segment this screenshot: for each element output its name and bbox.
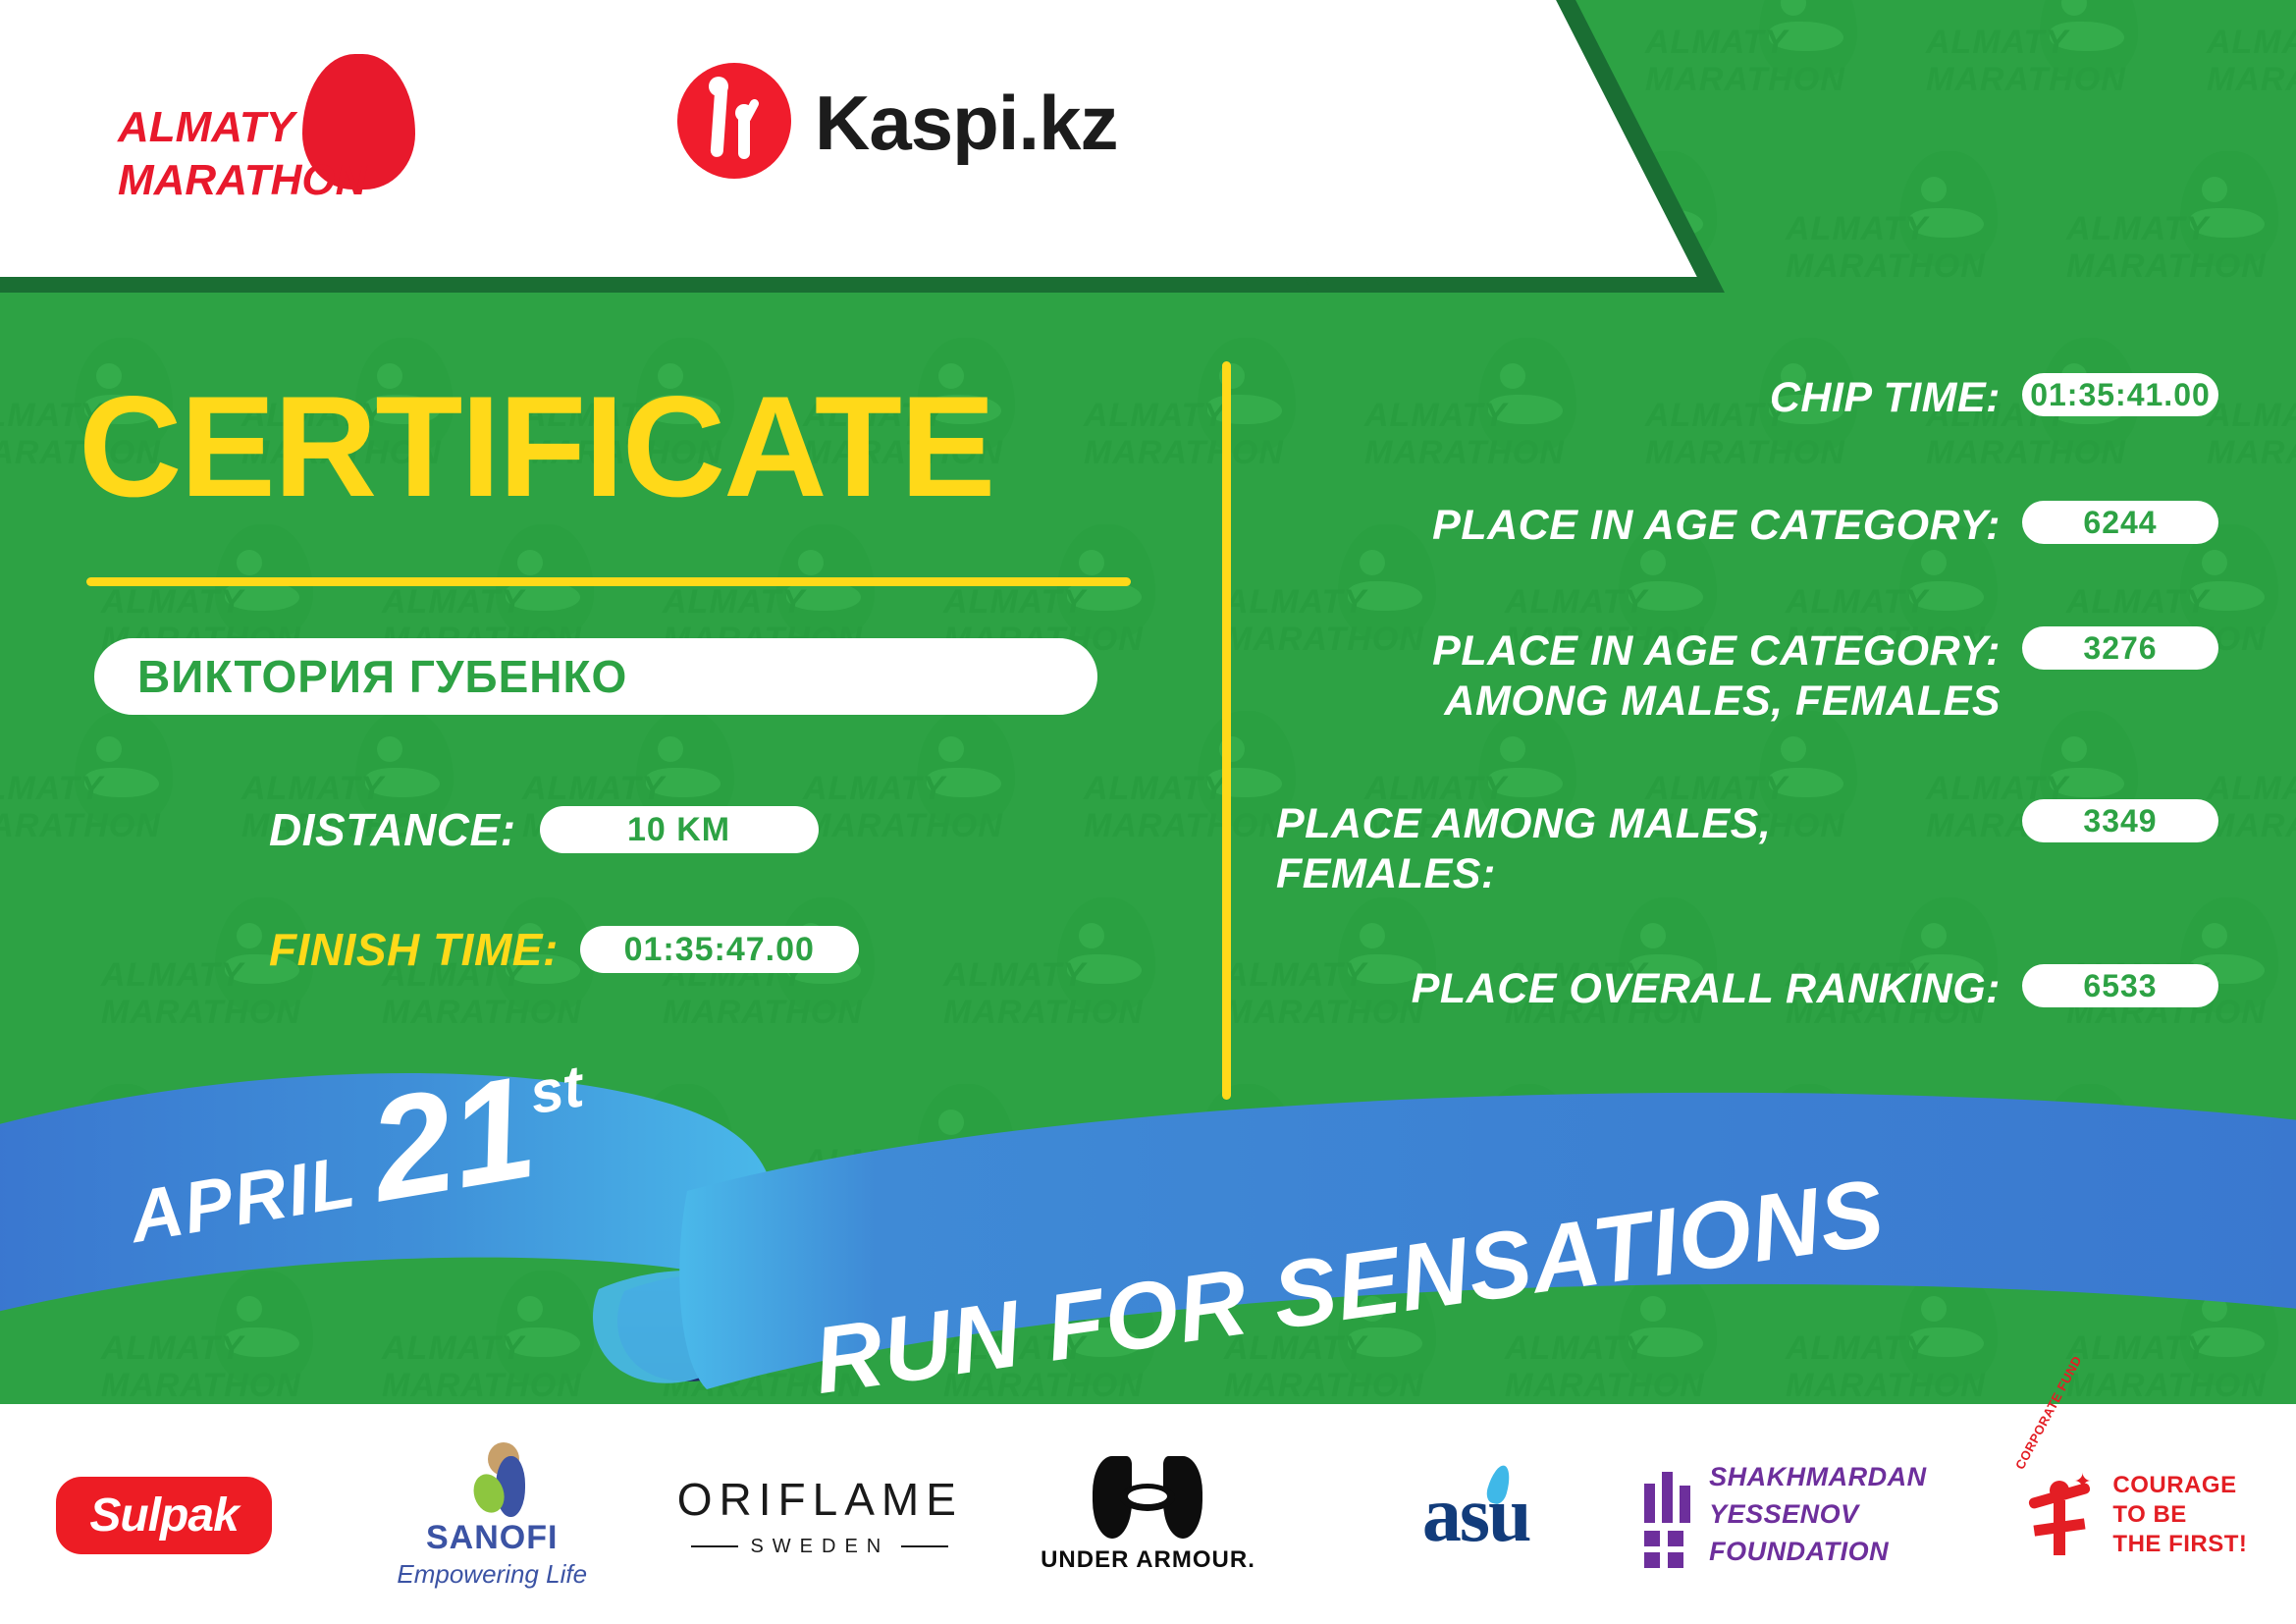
watermark-line2: MARATHON [1084, 1182, 1284, 1216]
watermark-line2: MARATHON [382, 996, 582, 1029]
watermark-line2: MARATHON [1505, 1369, 1705, 1402]
stat-row: CHIP TIME:01:35:41.00 [1276, 373, 2218, 423]
watermark-line1: ALMATY [1505, 585, 1647, 619]
stat-label: CHIP TIME: [1276, 373, 2001, 423]
sponsor-sanofi: SANOFI Empowering Life [328, 1406, 656, 1624]
sponsor-sulpak: Sulpak [0, 1406, 328, 1624]
stat-value: 3276 [2083, 630, 2157, 667]
stat-label: PLACE IN AGE CATEGORY: AMONG MALES, FEMA… [1276, 626, 2001, 726]
courage-line1: COURAGE [2112, 1471, 2247, 1500]
watermark-line1: ALMATY [2066, 1331, 2209, 1365]
watermark-tile: ALMATYMARATHON [803, 1080, 1029, 1247]
watermark-line2: MARATHON [1926, 1182, 2126, 1216]
watermark-line2: MARATHON [663, 996, 863, 1029]
finish-time-row: FINISH TIME: 01:35:47.00 [269, 923, 859, 976]
yessenov-logo: SHAKHMARDAN YESSENOV FOUNDATION [1640, 1459, 1968, 1570]
courage-wordmark: COURAGE TO BE THE FIRST! [2112, 1471, 2247, 1559]
oriflame-logo: ORIFLAME SWEDEN [677, 1473, 963, 1558]
watermark-line1: ALMATY [0, 772, 103, 805]
ye-bar-1 [1644, 1484, 1655, 1523]
watermark-tile: ALMATYMARATHON [1926, 1080, 2152, 1247]
asu-wordmark: asu [1422, 1471, 1530, 1560]
stat-row: PLACE AMONG MALES, FEMALES:3349 [1276, 799, 2218, 898]
stat-value: 6533 [2083, 968, 2157, 1004]
watermark-line2: MARATHON [2207, 436, 2296, 469]
almaty-marathon-logo: ALMATY MARATHON [118, 54, 442, 191]
almaty-marathon-wordmark: ALMATY MARATHON [118, 101, 366, 207]
watermark-line2: MARATHON [1224, 1369, 1424, 1402]
participant-name-field: ВИКТОРИЯ ГУБЕНКО [94, 638, 1097, 715]
watermark-line1: ALMATY [1786, 585, 1928, 619]
watermark-tile: ALMATYMARATHON [382, 893, 608, 1060]
watermark-line2: MARATHON [1645, 436, 1845, 469]
participant-name: ВИКТОРИЯ ГУБЕНКО [137, 650, 627, 703]
kaspi-logo: Kaspi.kz [677, 61, 1090, 179]
watermark-line2: MARATHON [0, 809, 161, 842]
event-day: 21 [362, 1061, 543, 1218]
stat-label: PLACE IN AGE CATEGORY: [1276, 501, 2001, 551]
courage-logo: CORPORATE FUND ✦ COURAGE TO BE THE FIRST… [2016, 1461, 2247, 1569]
sponsor-asu: asu [1312, 1406, 1640, 1624]
watermark-tile: ALMATYMARATHON [943, 893, 1169, 1060]
stat-value-pill: 3349 [2022, 799, 2218, 842]
kaspi-adult-head-icon [709, 77, 728, 96]
kaspi-wordmark: Kaspi.kz [815, 79, 1117, 168]
watermark-tile: ALMATYMARATHON [2066, 1267, 2292, 1404]
watermark-line1: ALMATY [382, 585, 524, 619]
distance-value-pill: 10 KM [540, 806, 819, 853]
watermark-line2: MARATHON [943, 996, 1144, 1029]
stat-value-pill: 6533 [2022, 964, 2218, 1007]
watermark-line1: ALMATY [241, 772, 384, 805]
watermark-tile: ALMATYMARATHON [0, 707, 187, 874]
watermark-line2: MARATHON [1084, 809, 1284, 842]
almaty-line1: ALMATY [118, 101, 366, 154]
watermark-line2: MARATHON [2207, 1182, 2296, 1216]
watermark-tile: ALMATYMARATHON [803, 707, 1029, 874]
watermark-line1: ALMATY [2066, 585, 2209, 619]
sulpak-logo: Sulpak [56, 1477, 271, 1554]
yessenov-line2: FOUNDATION [1709, 1534, 1968, 1571]
sanofi-mark-icon [445, 1440, 539, 1515]
watermark-tile: ALMATYMARATHON [382, 1267, 608, 1404]
sponsor-under-armour: UNDER ARMOUR. [984, 1406, 1311, 1624]
watermark-line1: ALMATY [1084, 399, 1226, 432]
watermark-line2: MARATHON [1364, 436, 1565, 469]
watermark-line1: ALMATY [522, 772, 665, 805]
ye-bar-2 [1662, 1472, 1673, 1523]
watermark-line1: ALMATY [101, 1331, 243, 1365]
finish-time-value-pill: 01:35:47.00 [580, 926, 859, 973]
watermark-line1: ALMATY [1786, 1331, 1928, 1365]
watermark-line1: ALMATY [943, 958, 1086, 992]
watermark-line1: ALMATY [803, 772, 945, 805]
watermark-line1: ALMATY [1505, 1331, 1647, 1365]
ye-sq-2 [1668, 1531, 1683, 1546]
sponsor-oriflame: ORIFLAME SWEDEN [656, 1406, 984, 1624]
under-armour-mark-icon [1089, 1456, 1206, 1539]
watermark-line1: ALMATY [2207, 1145, 2296, 1178]
watermark-line1: ALMATY [1224, 585, 1366, 619]
sponsor-courage: CORPORATE FUND ✦ COURAGE TO BE THE FIRST… [1968, 1406, 2296, 1624]
watermark-line2: MARATHON [803, 1182, 1003, 1216]
ye-bar-3 [1680, 1486, 1690, 1523]
stat-value-pill: 01:35:41.00 [2022, 373, 2218, 416]
watermark-line1: ALMATY [943, 585, 1086, 619]
stat-label: PLACE OVERALL RANKING: [1276, 964, 2001, 1014]
title-underline [86, 577, 1131, 586]
under-armour-wordmark: UNDER ARMOUR. [1041, 1546, 1255, 1574]
sponsor-yessenov: SHAKHMARDAN YESSENOV FOUNDATION [1640, 1406, 1968, 1624]
watermark-line2: MARATHON [2207, 809, 2296, 842]
watermark-line1: ALMATY [1084, 772, 1226, 805]
asu-logo: asu [1422, 1471, 1530, 1560]
sanofi-tagline: Empowering Life [397, 1559, 587, 1590]
stat-row: PLACE IN AGE CATEGORY: AMONG MALES, FEMA… [1276, 626, 2218, 726]
watermark-line2: MARATHON [803, 809, 1003, 842]
courage-mark-icon: CORPORATE FUND ✦ [2016, 1461, 2101, 1569]
kaspi-people-icon [677, 63, 791, 179]
watermark-line2: MARATHON [101, 1369, 301, 1402]
yessenov-wordmark: SHAKHMARDAN YESSENOV FOUNDATION [1709, 1459, 1968, 1570]
watermark-line2: MARATHON [1786, 1369, 1986, 1402]
sanofi-wordmark: SANOFI [397, 1519, 587, 1557]
watermark-tile: ALMATYMARATHON [2207, 1080, 2296, 1247]
page-title: CERTIFICATE [79, 375, 993, 518]
ye-sq-1 [1644, 1531, 1660, 1546]
finish-time-label: FINISH TIME: [269, 923, 559, 976]
almaty-line2: MARATHON [118, 154, 366, 207]
stat-value-pill: 6244 [2022, 501, 2218, 544]
watermark-line1: ALMATY [803, 1145, 945, 1178]
yessenov-line1: SHAKHMARDAN YESSENOV [1709, 1459, 1968, 1534]
watermark-line1: ALMATY [101, 958, 243, 992]
watermark-line1: ALMATY [1084, 1145, 1226, 1178]
sponsor-bar: Sulpak SANOFI Empowering Life ORIFLAME S… [0, 1406, 2296, 1624]
watermark-line1: ALMATY [1364, 1145, 1507, 1178]
watermark-line1: ALMATY [2207, 772, 2296, 805]
stat-value: 3349 [2083, 803, 2157, 839]
distance-value: 10 KM [627, 811, 730, 849]
watermark-line1: ALMATY [101, 585, 243, 619]
watermark-tile: ALMATYMARATHON [663, 893, 888, 1060]
certificate-root: ALMATYMARATHONALMATYMARATHONALMATYMARATH… [0, 0, 2296, 1624]
watermark-line2: MARATHON [2066, 1369, 2267, 1402]
distance-row: DISTANCE: 10 KM [269, 803, 819, 856]
watermark-line1: ALMATY [663, 1331, 805, 1365]
watermark-line2: MARATHON [1084, 436, 1284, 469]
ye-sq-4 [1668, 1552, 1683, 1568]
courage-line3: THE FIRST! [2112, 1530, 2247, 1559]
column-divider [1222, 361, 1231, 1100]
finish-time-value: 01:35:47.00 [624, 931, 815, 969]
watermark-line2: MARATHON [382, 1369, 582, 1402]
watermark-line1: ALMATY [2207, 399, 2296, 432]
watermark-tile: ALMATYMARATHON [101, 1267, 327, 1404]
yessenov-mark-icon [1640, 1470, 1687, 1560]
stat-value: 6244 [2083, 505, 2157, 541]
watermark-tile: ALMATYMARATHON [101, 893, 327, 1060]
stat-row: PLACE IN AGE CATEGORY:6244 [1276, 501, 2218, 551]
watermark-line1: ALMATY [1926, 1145, 2068, 1178]
header-band: ALMATY MARATHON Kaspi.kz [0, 0, 2296, 304]
courage-line2: TO BE [2112, 1500, 2247, 1530]
watermark-tile: ALMATYMARATHON [1084, 1080, 1309, 1247]
watermark-line1: ALMATY [0, 1145, 103, 1178]
event-day-suffix: st [525, 1052, 588, 1127]
oriflame-sub-text: SWEDEN [750, 1536, 889, 1558]
oriflame-wordmark: ORIFLAME [677, 1473, 963, 1526]
stat-value-pill: 3276 [2022, 626, 2218, 670]
stat-label: PLACE AMONG MALES, FEMALES: [1276, 799, 2001, 898]
under-armour-logo: UNDER ARMOUR. [1041, 1456, 1255, 1574]
watermark-line2: MARATHON [1926, 436, 2126, 469]
watermark-tile: ALMATYMARATHON [1786, 1267, 2011, 1404]
watermark-tile: ALMATYMARATHON [2207, 707, 2296, 874]
ye-sq-3 [1644, 1552, 1660, 1568]
watermark-line1: ALMATY [663, 585, 805, 619]
sanofi-logo: SANOFI Empowering Life [397, 1440, 587, 1590]
oriflame-sub: SWEDEN [677, 1536, 963, 1558]
stat-row: PLACE OVERALL RANKING:6533 [1276, 964, 2218, 1014]
stat-value: 01:35:41.00 [2030, 377, 2211, 413]
watermark-line1: ALMATY [382, 1331, 524, 1365]
watermark-line2: MARATHON [101, 996, 301, 1029]
watermark-tile: ALMATYMARATHON [2207, 334, 2296, 501]
distance-label: DISTANCE: [269, 803, 516, 856]
